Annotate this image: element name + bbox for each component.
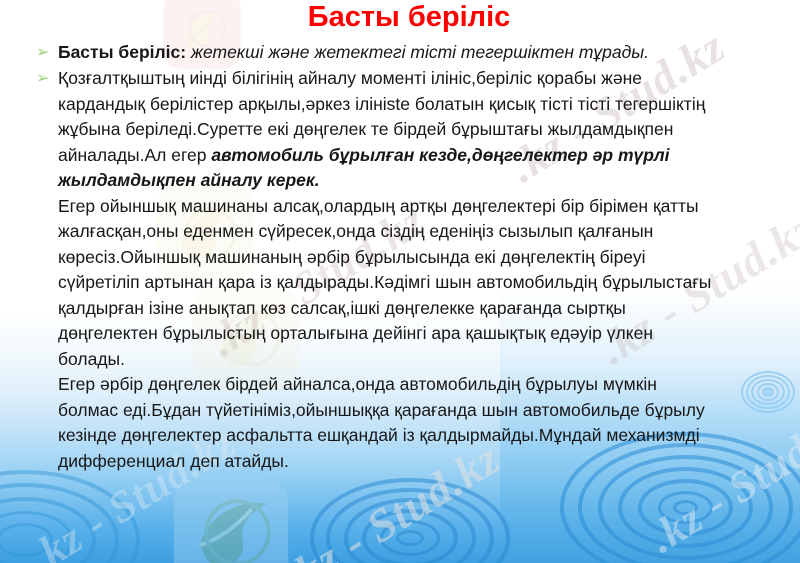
paragraph-text: Егер әрбір дөңгелек бірдей айналса,онда … xyxy=(22,372,782,474)
paragraph: ➢ Басты беріліс: жетекші және жетектегі … xyxy=(22,40,782,66)
chevron-bullet-icon: ➢ xyxy=(22,66,58,92)
chevron-bullet-icon: ➢ xyxy=(22,40,58,66)
paragraph-text: Қозғалтқыштың иінді білігінің айналу мом… xyxy=(58,66,782,194)
paragraph-text: Басты беріліс: жетекші және жетектегі ті… xyxy=(58,40,782,66)
slide-body: ➢ Басты беріліс: жетекші және жетектегі … xyxy=(22,40,782,474)
paragraph-text: Егер ойыншық машинаны алсақ,олардың артқ… xyxy=(22,194,782,373)
paragraph: ➢ Қозғалтқыштың иінді білігінің айналу м… xyxy=(22,66,782,194)
paragraph-lead-bold: Басты беріліс: xyxy=(58,42,186,62)
paragraph: Егер әрбір дөңгелек бірдей айналса,онда … xyxy=(22,372,782,474)
slide-title: Басты беріліс xyxy=(0,1,800,33)
paragraph-italic: жетекші және жетектегі тісті тегершіктен… xyxy=(186,42,649,62)
presentation-slide: .kz - Stud.kz .kz - Stud.kz .kz - Stud.k… xyxy=(0,0,800,563)
paragraph: Егер ойыншық машинаны алсақ,олардың артқ… xyxy=(22,194,782,373)
